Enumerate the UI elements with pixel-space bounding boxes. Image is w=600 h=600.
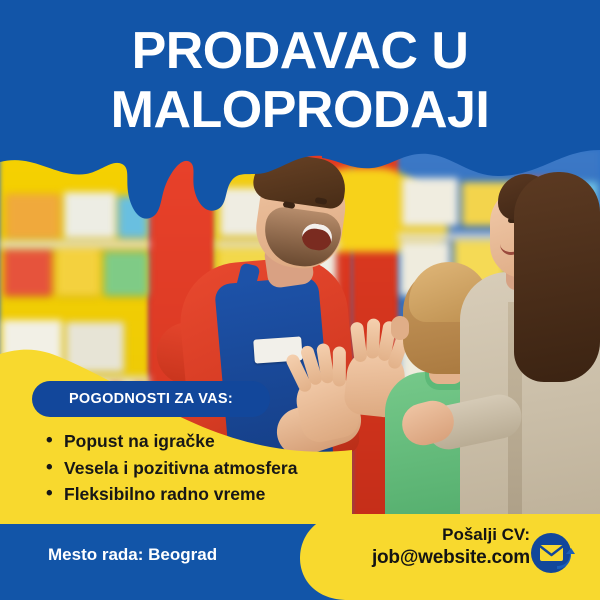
list-item: Popust na igračke [46, 428, 376, 455]
envelope-icon[interactable] [527, 530, 575, 578]
title-line-2: MALOPRODAJI [0, 81, 600, 140]
cv-email-address[interactable]: job@website.com [340, 546, 530, 571]
benefits-list: Popust na igračke Vesela i pozitivna atm… [46, 428, 376, 508]
benefits-heading-label: POGODNOSTI ZA VAS: [69, 391, 233, 407]
title-line-1: PRODAVAC U [0, 22, 600, 81]
list-item: Vesela i pozitivna atmosfera [46, 455, 376, 482]
benefits-heading-pill: POGODNOSTI ZA VAS: [32, 381, 270, 417]
cv-contact-block: Pošalji CV: job@website.com [340, 524, 530, 571]
list-item: Fleksibilno radno vreme [46, 481, 376, 508]
job-ad-poster: PRODAVAC U MALOPRODAJI POGODNOSTI ZA VAS… [0, 0, 600, 600]
cv-label: Pošalji CV: [340, 524, 530, 546]
work-location-text: Mesto rada: Beograd [48, 545, 217, 565]
page-title: PRODAVAC U MALOPRODAJI [0, 22, 600, 141]
